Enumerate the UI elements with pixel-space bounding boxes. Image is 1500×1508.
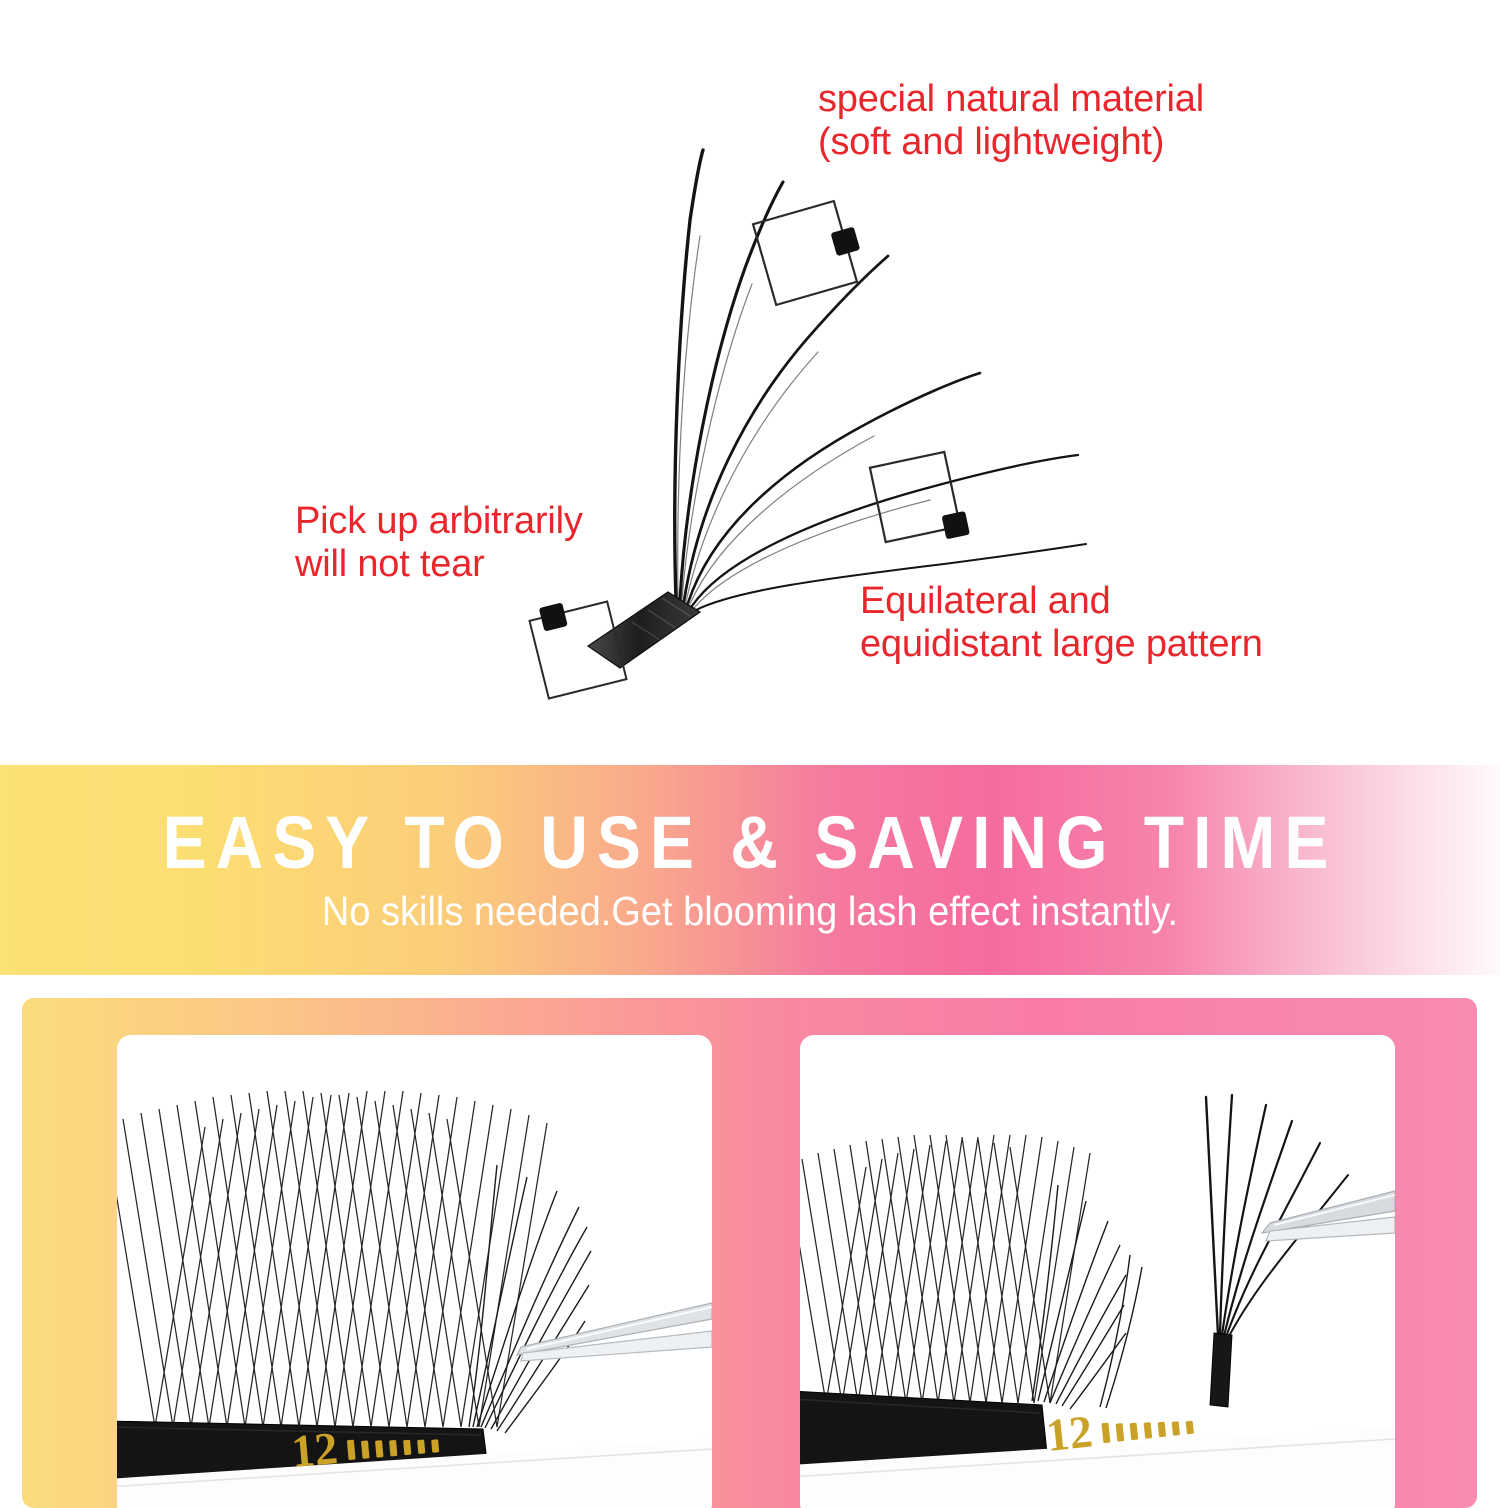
product-photo-right: 12 [800,1035,1395,1508]
lash-strands [675,150,1086,610]
lash-wisps [678,236,930,608]
callout-marker-1 [753,198,868,305]
product-photo-left: 12 [117,1035,712,1508]
promo-banner: EASY TO USE & SAVING TIME No skills need… [0,765,1500,975]
callout-special-material: special natural material (soft and light… [818,78,1204,163]
lash-fan-pickup-photo: 12 [800,1035,1395,1508]
lash-tray-photo: 12 [117,1035,712,1508]
lash-fan-base [588,592,700,668]
svg-text:12: 12 [1044,1405,1095,1461]
callout-equilateral: Equilateral and equidistant large patter… [860,580,1263,665]
callout-pick-up: Pick up arbitrarily will not tear [295,500,583,585]
banner-title: EASY TO USE & SAVING TIME [163,805,1338,879]
product-photo-panel: 12 [22,998,1477,1508]
banner-subtitle: No skills needed.Get blooming lash effec… [322,891,1178,932]
top-diagram-section: special natural material (soft and light… [0,0,1500,765]
lash-fan-diagram [0,0,1500,765]
svg-text:12: 12 [289,1422,339,1477]
